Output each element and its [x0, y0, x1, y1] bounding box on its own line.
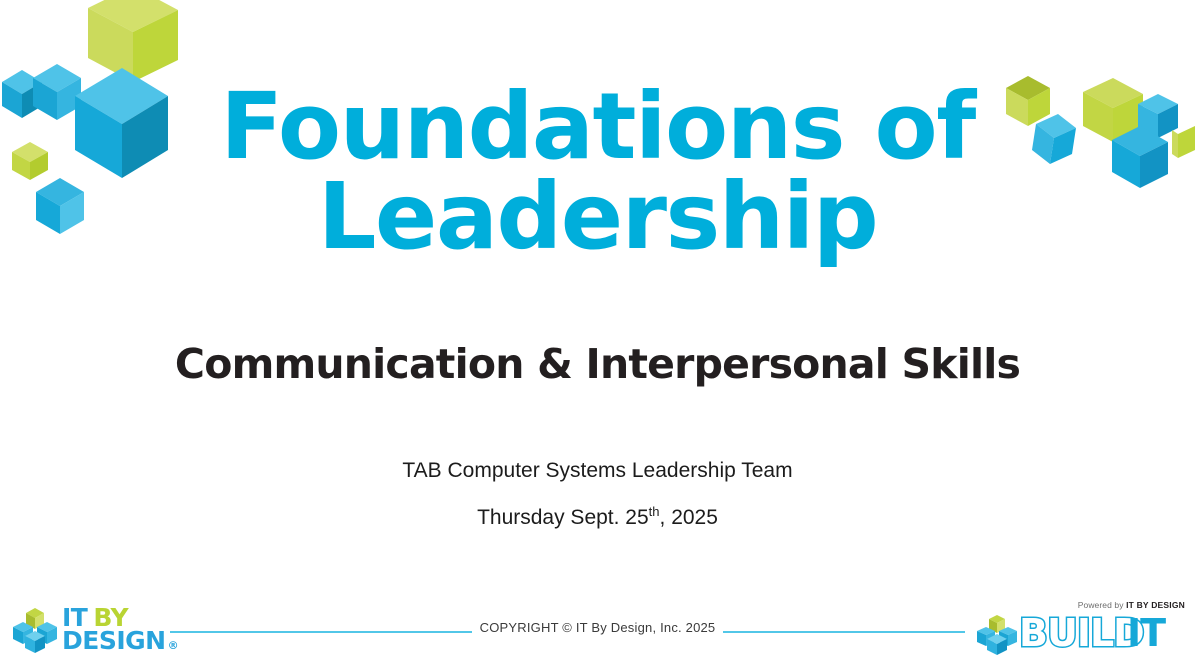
- build-it-wordmark: BUILD IT: [1019, 611, 1187, 655]
- logo-word-design: DESIGN: [62, 626, 166, 655]
- it-word-solid: IT: [1127, 611, 1166, 655]
- powered-by-brand: IT BY DESIGN: [1126, 600, 1185, 610]
- powered-by-text: Powered by: [1078, 600, 1124, 610]
- registered-mark: ®: [168, 639, 179, 652]
- copyright-text: COPYRIGHT © IT By Design, Inc. 2025: [472, 620, 724, 635]
- slide-title: Foundations of Leadership: [0, 82, 1195, 262]
- it-by-design-wordmark: ITBY DESIGN®: [62, 606, 178, 652]
- date-ordinal: th: [649, 504, 660, 519]
- date-year: , 2025: [660, 506, 718, 529]
- presenter-line: TAB Computer Systems Leadership Team: [0, 459, 1195, 483]
- logo-it-by-design: ITBY DESIGN®: [12, 598, 190, 660]
- powered-by-tagline: Powered by IT BY DESIGN: [1078, 600, 1185, 610]
- build-it-cube-icon: [975, 612, 1019, 656]
- cube-green-large: [88, 0, 178, 82]
- build-word-outline: BUILD: [1019, 611, 1144, 655]
- slide-subtitle: Communication & Interpersonal Skills: [0, 340, 1195, 388]
- it-by-design-cube-icon: [12, 603, 58, 655]
- it-by-design-line-2: DESIGN®: [62, 629, 178, 652]
- event-date-line: Thursday Sept. 25th, 2025: [0, 506, 1195, 530]
- logo-build-it: Powered by IT BY DESIGN: [975, 598, 1187, 658]
- slide-canvas: Foundations of Leadership Communication …: [0, 0, 1195, 668]
- date-main: Thursday Sept. 25: [477, 506, 649, 529]
